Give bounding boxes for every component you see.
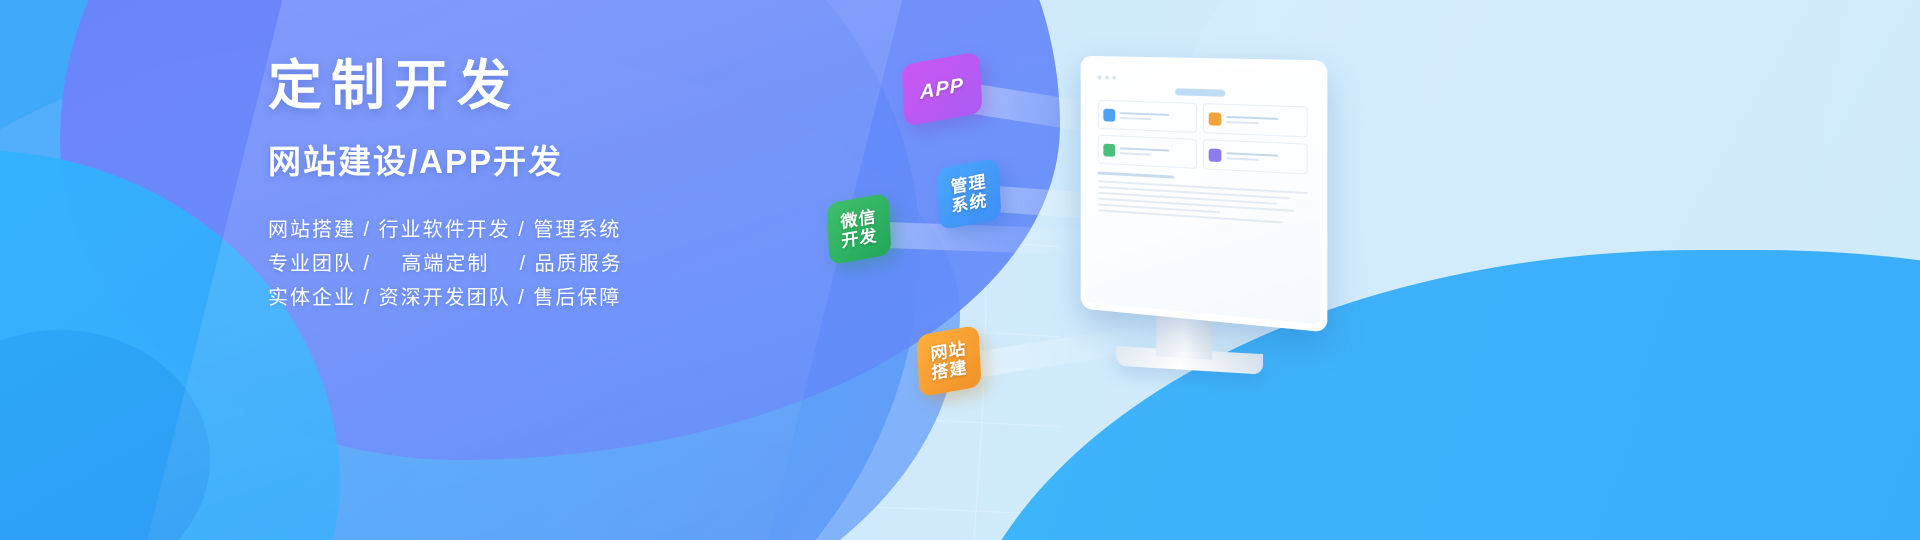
tile-app-label: APP — [919, 74, 964, 104]
tile-website-build-label: 网站 搭建 — [930, 339, 968, 383]
monitor-mockup — [1060, 58, 1350, 398]
screen-body-text — [1098, 171, 1308, 225]
copy-block: 定制开发 网站建设/APP开发 网站搭建 / 行业软件开发 / 管理系统 专业团… — [268, 58, 788, 315]
users-icon — [1103, 143, 1115, 156]
monitor-screen — [1087, 63, 1320, 325]
tile-website-build[interactable]: 网站 搭建 — [916, 325, 981, 397]
page-title: 定制开发 — [268, 58, 788, 115]
promo-banner: 定制开发 网站建设/APP开发 网站搭建 / 行业软件开发 / 管理系统 专业团… — [0, 0, 1920, 540]
tile-management-system-label: 管理 系统 — [950, 172, 988, 216]
feature-line-2: 专业团队 / 高端定制 / 品质服务 — [268, 247, 788, 281]
card-text-lines — [1120, 147, 1191, 157]
feature-list: 网站搭建 / 行业软件开发 / 管理系统 专业团队 / 高端定制 / 品质服务 … — [268, 213, 788, 315]
screen-topbar — [1098, 73, 1308, 87]
cloud-icon — [1208, 148, 1221, 162]
topbar-dot-icon — [1112, 75, 1116, 79]
screen-card — [1202, 103, 1307, 137]
feature-line-3: 实体企业 / 资深开发团队 / 售后保障 — [268, 281, 788, 315]
feature-line-1: 网站搭建 / 行业软件开发 / 管理系统 — [268, 213, 788, 247]
screen-title-placeholder — [1175, 88, 1225, 96]
screen-card-grid — [1098, 100, 1308, 175]
screen-card — [1098, 135, 1197, 169]
topbar-dot-icon — [1098, 75, 1102, 79]
tile-management-system[interactable]: 管理 系统 — [936, 158, 1001, 230]
card-text-lines — [1226, 115, 1302, 125]
screen-card — [1202, 139, 1307, 174]
card-text-lines — [1226, 152, 1302, 163]
topbar-dot-icon — [1105, 75, 1109, 79]
card-text-lines — [1120, 112, 1191, 122]
chart-icon — [1103, 108, 1115, 121]
tile-wechat-development-label: 微信 开发 — [840, 207, 878, 251]
monitor-frame — [1081, 56, 1328, 333]
screen-card — [1098, 100, 1197, 133]
page-subtitle: 网站建设/APP开发 — [268, 135, 788, 183]
tile-wechat-development[interactable]: 微信 开发 — [826, 193, 891, 265]
folder-icon — [1208, 112, 1221, 126]
